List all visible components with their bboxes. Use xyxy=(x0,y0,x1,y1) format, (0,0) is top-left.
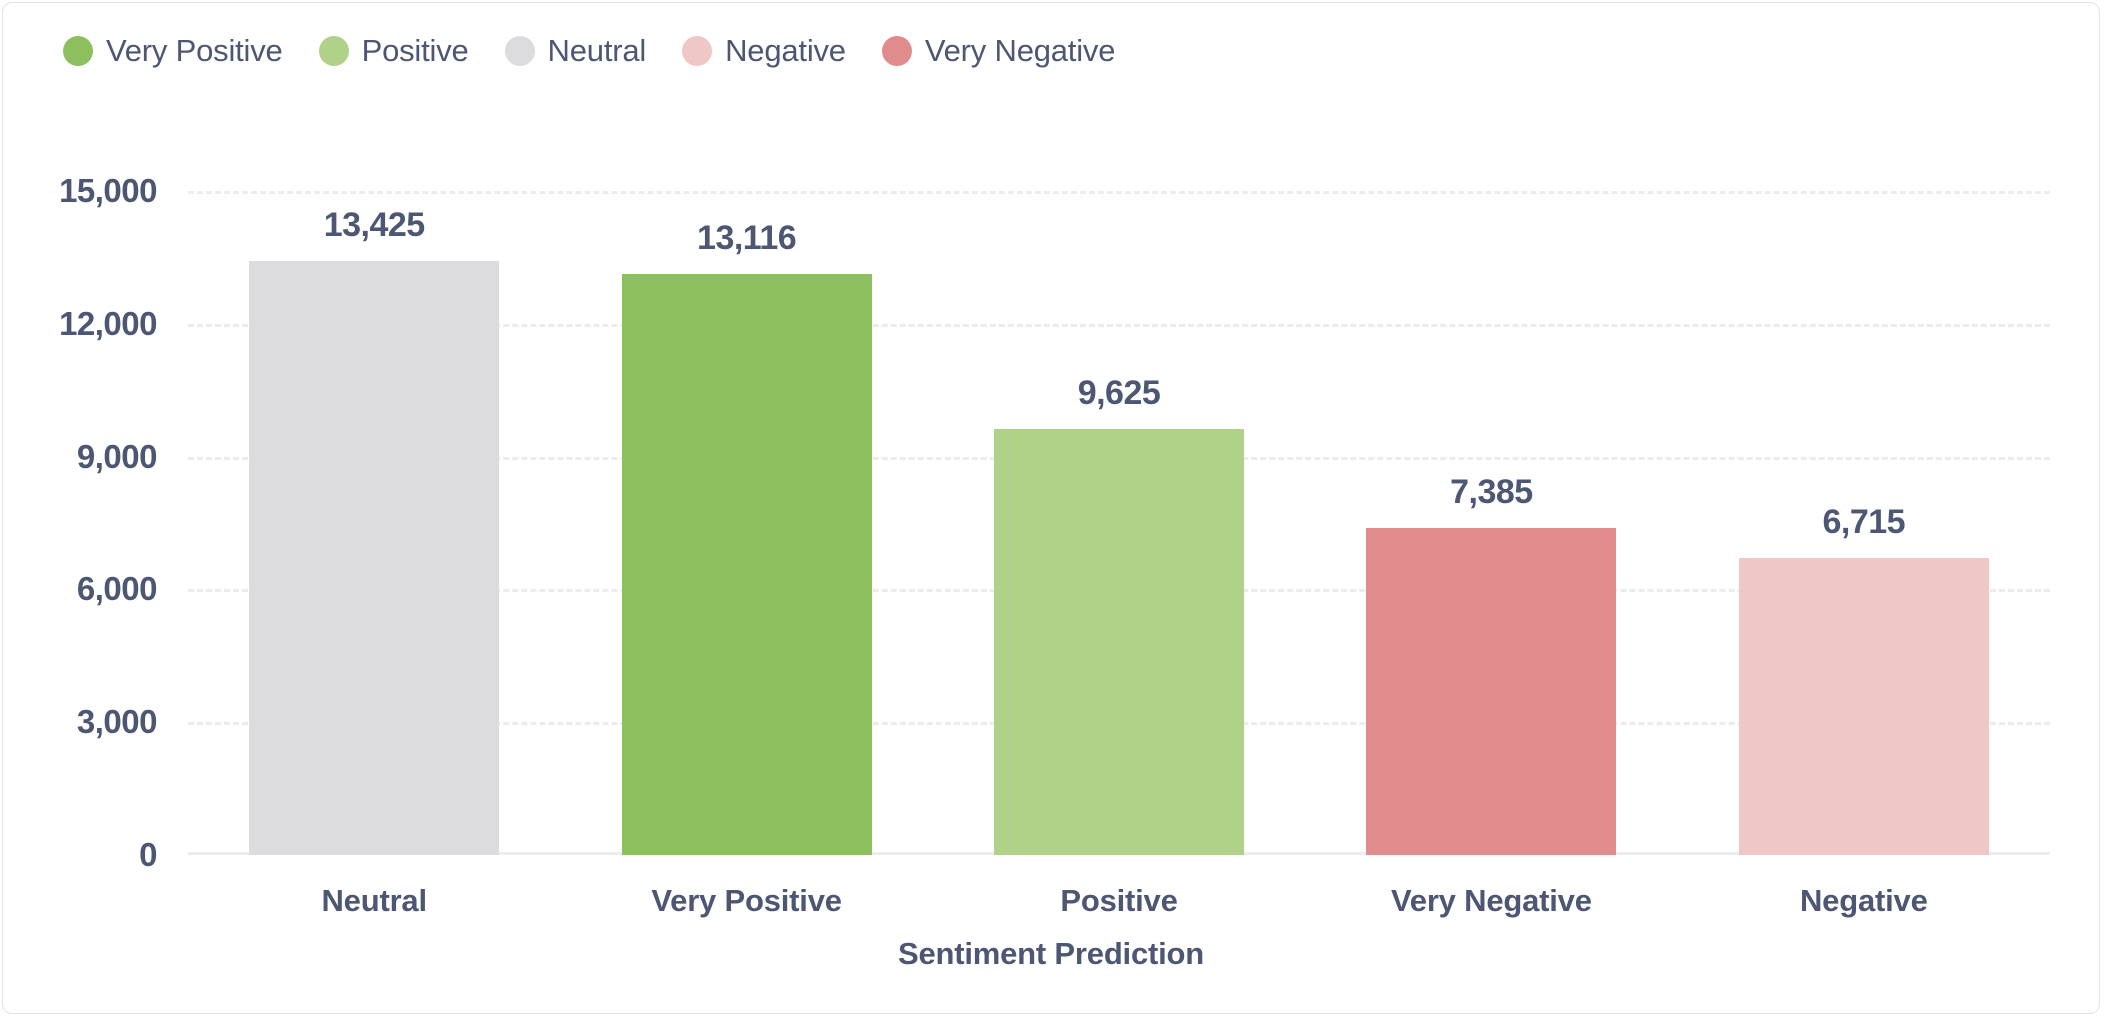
legend-label: Negative xyxy=(725,33,846,69)
legend-item[interactable]: Negative xyxy=(682,33,846,69)
bar-column: 6,715 xyxy=(1739,191,1989,855)
legend-swatch-icon xyxy=(882,36,912,66)
bar-value-label: 9,625 xyxy=(1078,374,1161,413)
bar[interactable] xyxy=(1366,528,1616,855)
y-axis-tick-label: 9,000 xyxy=(77,438,157,476)
bar[interactable] xyxy=(622,274,872,855)
bar-column: 13,116 xyxy=(622,191,872,855)
x-axis-tick-label: Neutral xyxy=(321,883,426,919)
y-axis: 03,0006,0009,00012,00015,000 xyxy=(3,3,175,1014)
chart-legend: Very PositivePositiveNeutralNegativeVery… xyxy=(63,25,1115,77)
bar-column: 7,385 xyxy=(1366,191,1616,855)
bar-value-label: 13,116 xyxy=(697,219,796,258)
bar[interactable] xyxy=(994,429,1244,855)
x-axis-tick-label: Very Negative xyxy=(1391,883,1592,919)
chart-card: Very PositivePositiveNeutralNegativeVery… xyxy=(2,2,2100,1014)
legend-label: Positive xyxy=(362,33,469,69)
legend-swatch-icon xyxy=(319,36,349,66)
plot-area: 13,42513,1169,6257,3856,715 xyxy=(188,191,2050,855)
x-axis-tick-label: Negative xyxy=(1800,883,1928,919)
bar[interactable] xyxy=(1739,558,1989,855)
legend-item[interactable]: Positive xyxy=(319,33,469,69)
x-axis-tick-label: Very Positive xyxy=(651,883,841,919)
legend-label: Neutral xyxy=(548,33,647,69)
bar-column: 13,425 xyxy=(249,191,499,855)
x-axis-tick-label: Positive xyxy=(1060,883,1177,919)
legend-swatch-icon xyxy=(682,36,712,66)
legend-item[interactable]: Neutral xyxy=(505,33,647,69)
bar-value-label: 6,715 xyxy=(1823,503,1906,542)
y-axis-tick-label: 3,000 xyxy=(77,703,157,741)
y-axis-tick-label: 6,000 xyxy=(77,570,157,608)
bar-column: 9,625 xyxy=(994,191,1244,855)
legend-label: Very Negative xyxy=(925,33,1115,69)
y-axis-tick-label: 15,000 xyxy=(59,172,157,210)
legend-item[interactable]: Very Negative xyxy=(882,33,1115,69)
bar-value-label: 7,385 xyxy=(1450,473,1533,512)
bar[interactable] xyxy=(249,261,499,855)
y-axis-tick-label: 12,000 xyxy=(59,305,157,343)
y-axis-tick-label: 0 xyxy=(139,836,157,874)
x-axis-title: Sentiment Prediction xyxy=(3,936,2099,972)
bar-value-label: 13,425 xyxy=(324,206,425,245)
legend-swatch-icon xyxy=(505,36,535,66)
